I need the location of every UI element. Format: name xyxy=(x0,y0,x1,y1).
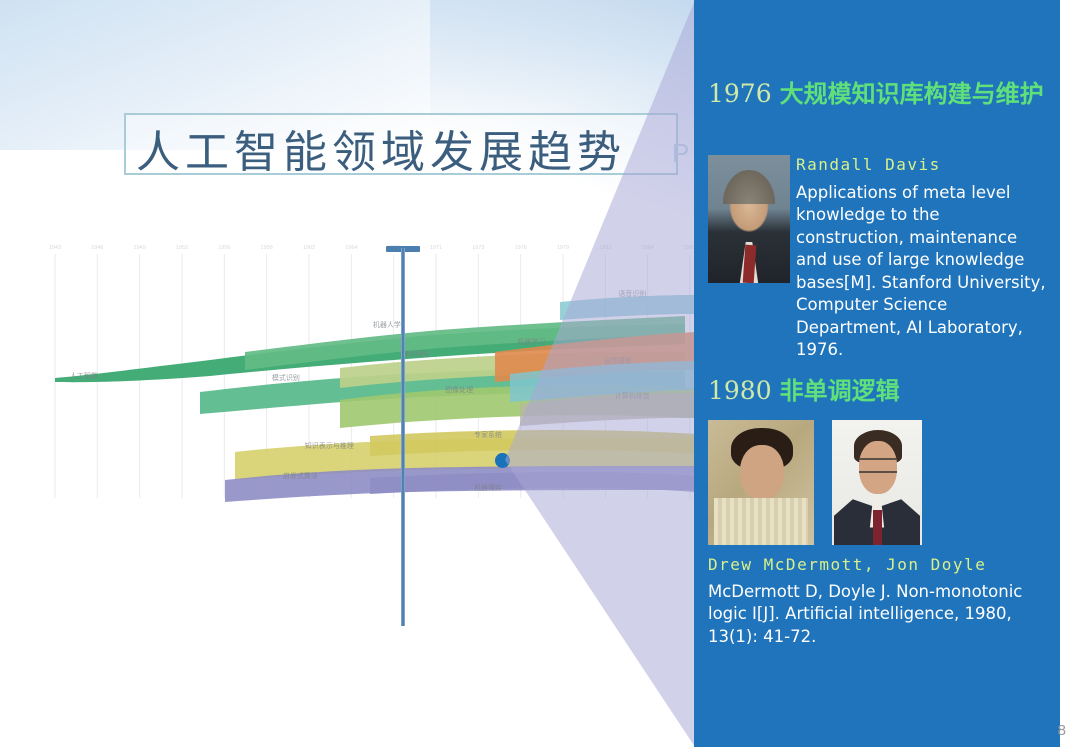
entry-1976-text-col: Randall Davis Applications of meta level… xyxy=(796,155,1048,362)
timeline-marker-line[interactable] xyxy=(401,248,405,626)
series-label: 神经网络 xyxy=(402,349,430,358)
detail-panel: 1976 大规模知识库构建与维护 Randall Davis Applicati… xyxy=(694,0,1060,747)
series-label: 人工智能 xyxy=(70,371,98,380)
series-label: 知识表示与推理 xyxy=(305,441,354,450)
series-label: 图像处理 xyxy=(445,385,473,394)
entry-1976-year: 1976 xyxy=(708,79,772,108)
slide-canvas: 人工智能领域发展趋势 P 194319461949195219561958196… xyxy=(0,0,1080,747)
x-tick-label: 1958 xyxy=(261,245,273,251)
page-title: 人工智能领域发展趋势 xyxy=(136,116,626,180)
series-label: 专家系统 xyxy=(474,430,502,439)
x-tick-label: 1971 xyxy=(430,245,442,251)
entry-1980-heading-zh: 非单调逻辑 xyxy=(780,377,900,405)
x-tick-label: 1976 xyxy=(515,245,527,251)
drew-mcdermott-portrait xyxy=(708,420,814,545)
series-label: 计算机视觉 xyxy=(615,391,650,400)
streamgraph-svg: 1943194619491952195619581962196419681971… xyxy=(40,240,700,510)
highlight-data-point[interactable] xyxy=(495,453,510,468)
entry-1976-citation: Applications of meta level knowledge to … xyxy=(796,182,1048,362)
entry-1980-year: 1980 xyxy=(708,376,772,405)
series-label: 启发式算法 xyxy=(283,471,318,480)
entry-1980: 1980 非单调逻辑 xyxy=(708,375,1048,407)
title-suffix: P xyxy=(672,138,690,169)
entry-1976-authors: Randall Davis xyxy=(796,155,1048,174)
entry-1980-authors: Drew McDermott, Jon Doyle xyxy=(708,555,986,574)
series-label: 模式识别 xyxy=(272,373,300,382)
x-tick-label: 1952 xyxy=(176,245,188,251)
x-tick-label: 1943 xyxy=(49,245,61,251)
randall-davis-portrait xyxy=(708,155,790,283)
x-tick-label: 1949 xyxy=(134,245,146,251)
x-tick-label: 1962 xyxy=(303,245,315,251)
page-number: 8 xyxy=(1058,722,1066,739)
series-label: 语音识别 xyxy=(618,289,646,298)
entry-1976-heading-zh: 大规模知识库构建与维护 xyxy=(780,80,1044,108)
entry-1980-heading: 1980 非单调逻辑 xyxy=(708,375,1048,407)
x-tick-label: 1979 xyxy=(557,245,569,251)
series-label: 自然语言 xyxy=(604,356,632,365)
entry-1980-citation: McDermott D, Doyle J. Non-monotonic logi… xyxy=(708,581,1028,648)
x-tick-label: 1946 xyxy=(91,245,103,251)
x-tick-label: 1964 xyxy=(345,245,357,251)
entry-1976-heading: 1976 大规模知识库构建与维护 xyxy=(708,78,1048,110)
series-label: 机器博弈 xyxy=(474,483,502,492)
entry-1976: 1976 大规模知识库构建与维护 xyxy=(708,78,1048,110)
x-tick-label: 1973 xyxy=(472,245,484,251)
jon-doyle-portrait xyxy=(832,420,922,545)
x-tick-label: 1984 xyxy=(642,245,654,251)
series-label: 机器人学 xyxy=(373,320,401,329)
ai-field-trend-streamgraph: 1943194619491952195619581962196419681971… xyxy=(40,240,700,510)
x-tick-label: 1956 xyxy=(218,245,230,251)
chart-x-tick-labels: 1943194619491952195619581962196419681971… xyxy=(49,245,696,251)
x-tick-label: 1982 xyxy=(599,245,611,251)
series-label: 机器学习 xyxy=(517,337,545,346)
stream-speech-recognition xyxy=(560,295,698,320)
